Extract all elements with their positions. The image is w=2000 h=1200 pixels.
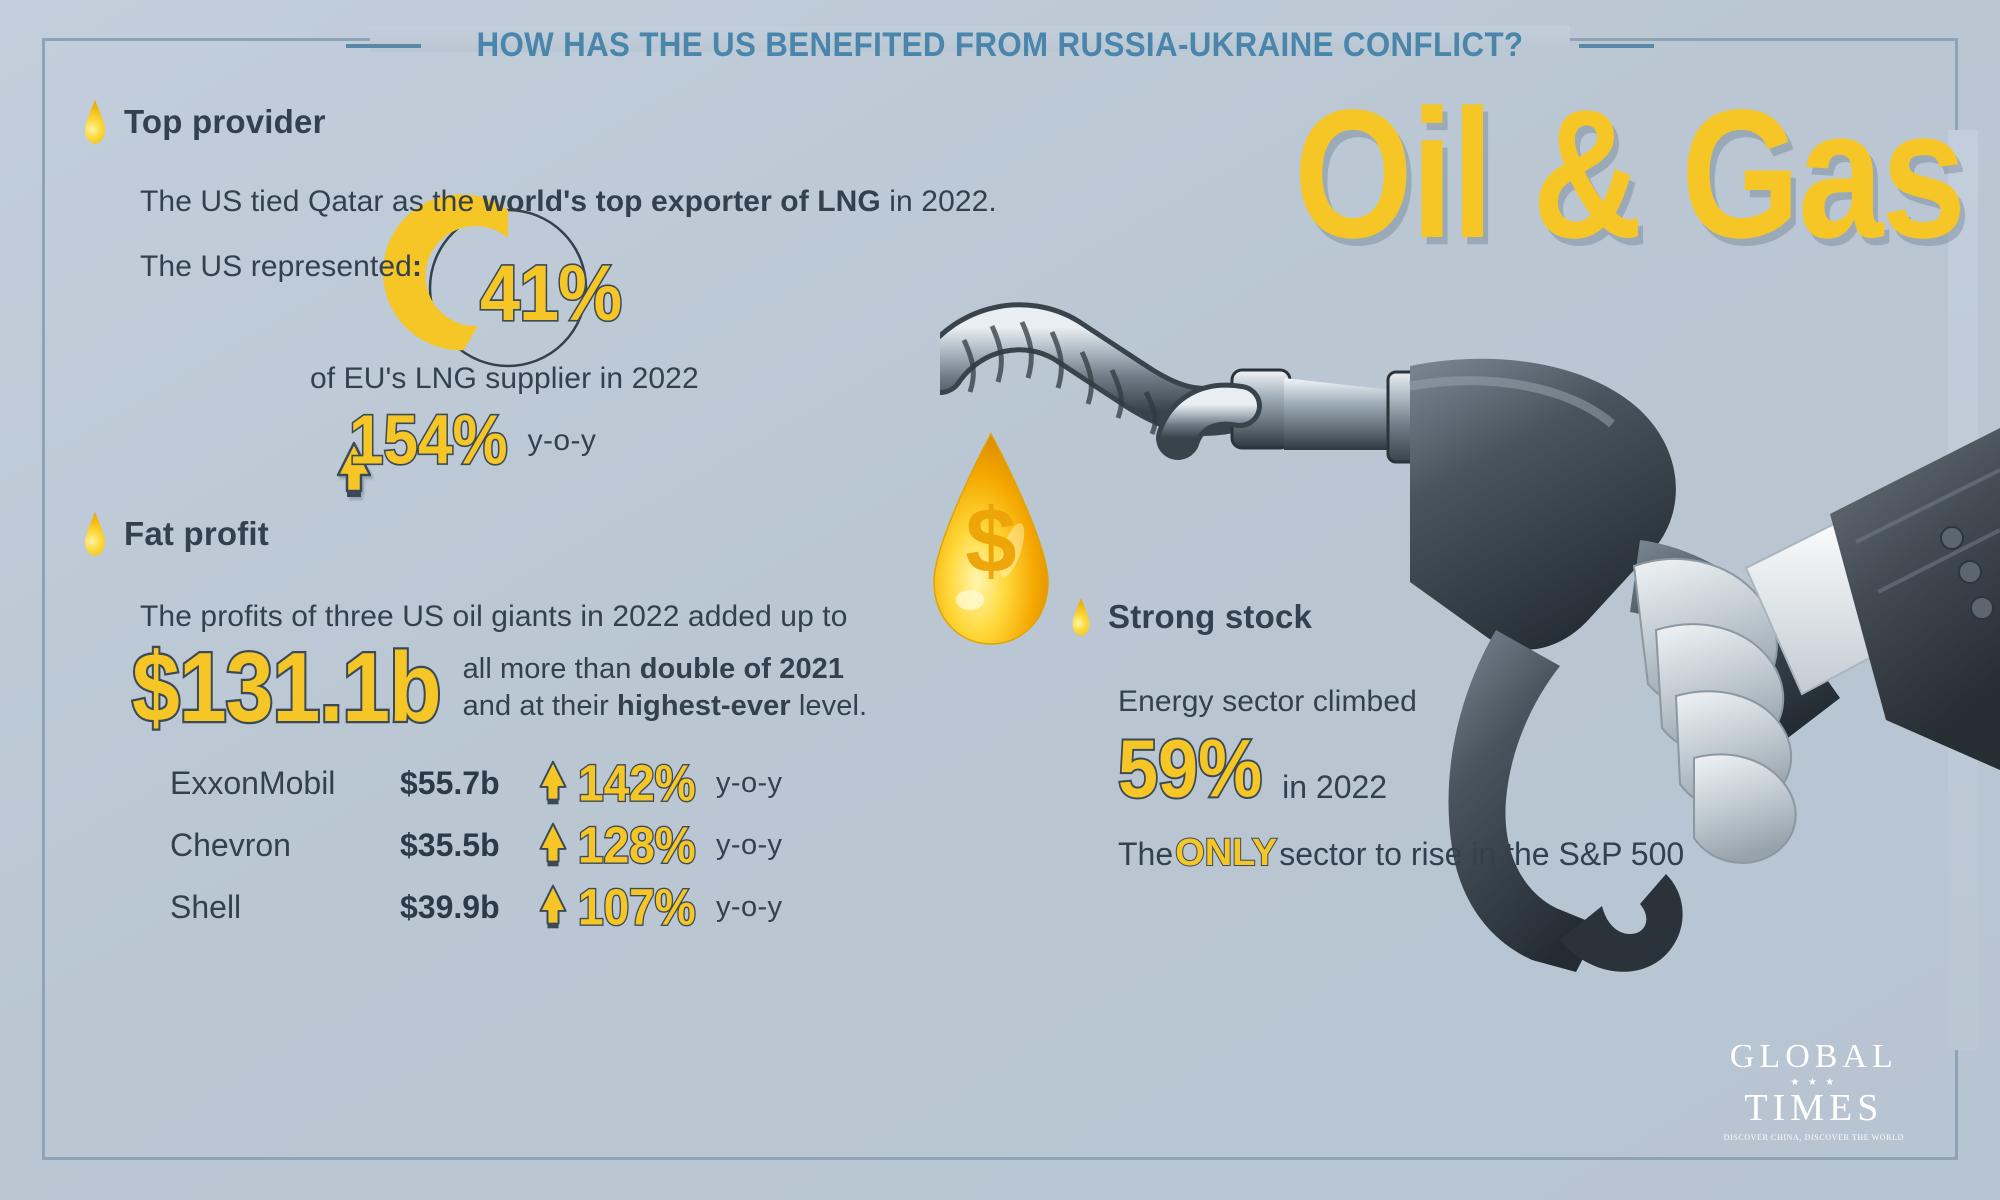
oil-drop-icon [1070,598,1092,636]
arrow-up-icon [538,884,578,930]
section-title-top-provider: Top provider [124,103,326,141]
fat-profit-figure-row: $131.1b all more than double of 2021 and… [132,645,867,731]
fp-n2-c: level. [791,690,867,722]
tp-l2-b: : [412,250,422,283]
headline-rule-left [346,44,421,48]
tp-l2-a: The US represented [140,250,412,283]
svg-text:$: $ [965,490,1016,592]
company-growth-percent: 128% [578,820,716,871]
company-name: ExxonMobil [170,765,400,802]
company-yoy-label: y-o-y [716,829,782,862]
company-growth-percent: 107% [578,882,716,933]
dollar-oil-drop-icon: $ [930,432,1052,647]
top-provider-growth: 154% y-o-y [335,410,596,472]
tp-l1-c: in 2022. [881,185,997,218]
arrow-up-icon [538,760,578,806]
company-name: Chevron [170,827,400,864]
energy-sector-percent: 59% [1118,728,1262,810]
growth-percent: 154% [349,406,508,475]
energy-sector-year: in 2022 [1282,769,1387,806]
fp-n1-b: double of 2021 [640,653,844,685]
growth-yoy-label: y-o-y [528,424,597,458]
company-profit: $35.5b [400,827,538,864]
tp-l1-b: world's top exporter of LNG [483,185,881,218]
top-provider-line-2: The US represented: [140,250,422,284]
page-title: Oil & Gas [1294,82,1964,265]
fuel-nozzle-illustration [940,300,2000,1040]
fp-note-line-1: all more than double of 2021 [463,653,868,686]
arrow-up-icon [538,822,578,868]
company-growth-percent: 142% [578,758,716,809]
company-profit-table: ExxonMobil $55.7b 142% y-o-y Chevron $35… [170,760,782,930]
strong-stock-line-2: The ONLY sector to rise in the S&P 500 [1118,832,1684,875]
section-title-strong-stock: Strong stock [1108,598,1312,636]
fp-n2-b: highest-ever [617,690,791,722]
section-fat-profit: Fat profit [82,512,269,556]
company-yoy-label: y-o-y [716,891,782,924]
logo-times-text: TIMES [1724,1089,1904,1129]
table-row: Chevron $35.5b 128% y-o-y [170,822,782,868]
strong-stock-figure-row: 59% in 2022 [1118,738,1387,810]
logo-tagline: DISCOVER CHINA, DISCOVER THE WORLD [1724,1133,1904,1142]
donut-chart-lng-share: 41% [408,198,608,378]
top-provider-line-1: The US tied Qatar as the world's top exp… [140,185,997,219]
fat-profit-amount: $131.1b [132,639,441,737]
oil-drop-icon [82,100,108,144]
global-times-logo: GLOBAL ★ ★ ★ TIMES DISCOVER CHINA, DISCO… [1724,1039,1904,1142]
headline-text: HOW HAS THE US BENEFITED FROM RUSSIA-UKR… [477,26,1524,65]
tp-l1-a: The US tied Qatar as the [140,185,483,218]
headline-rule-right [1579,44,1654,48]
ss-l2-b: sector to rise in the S&P 500 [1279,836,1684,873]
headline-bar: HOW HAS THE US BENEFITED FROM RUSSIA-UKR… [0,26,2000,65]
oil-drop-icon [82,512,108,556]
fp-note-line-2: and at their highest-ever level. [463,690,868,723]
fat-profit-note: all more than double of 2021 and at thei… [463,653,868,723]
ss-l2-a: The [1118,836,1173,873]
company-yoy-label: y-o-y [716,767,782,800]
ss-only-emphasis: ONLY [1175,832,1277,875]
company-profit: $39.9b [400,889,538,926]
strong-stock-line-1: Energy sector climbed [1118,685,1417,719]
table-row: ExxonMobil $55.7b 142% y-o-y [170,760,782,806]
section-title-fat-profit: Fat profit [124,515,269,553]
donut-value-label: 41% [480,254,621,333]
fp-n1-a: all more than [463,653,640,685]
infographic-poster: HOW HAS THE US BENEFITED FROM RUSSIA-UKR… [0,0,2000,1200]
fat-profit-line-1: The profits of three US oil giants in 20… [140,600,848,634]
donut-caption: of EU's LNG supplier in 2022 [310,362,699,396]
section-strong-stock: Strong stock [1070,598,1312,636]
company-name: Shell [170,889,400,926]
company-profit: $55.7b [400,765,538,802]
fp-n2-a: and at their [463,690,617,722]
section-top-provider: Top provider [82,100,326,144]
logo-global-text: GLOBAL [1724,1039,1904,1075]
table-row: Shell $39.9b 107% y-o-y [170,884,782,930]
